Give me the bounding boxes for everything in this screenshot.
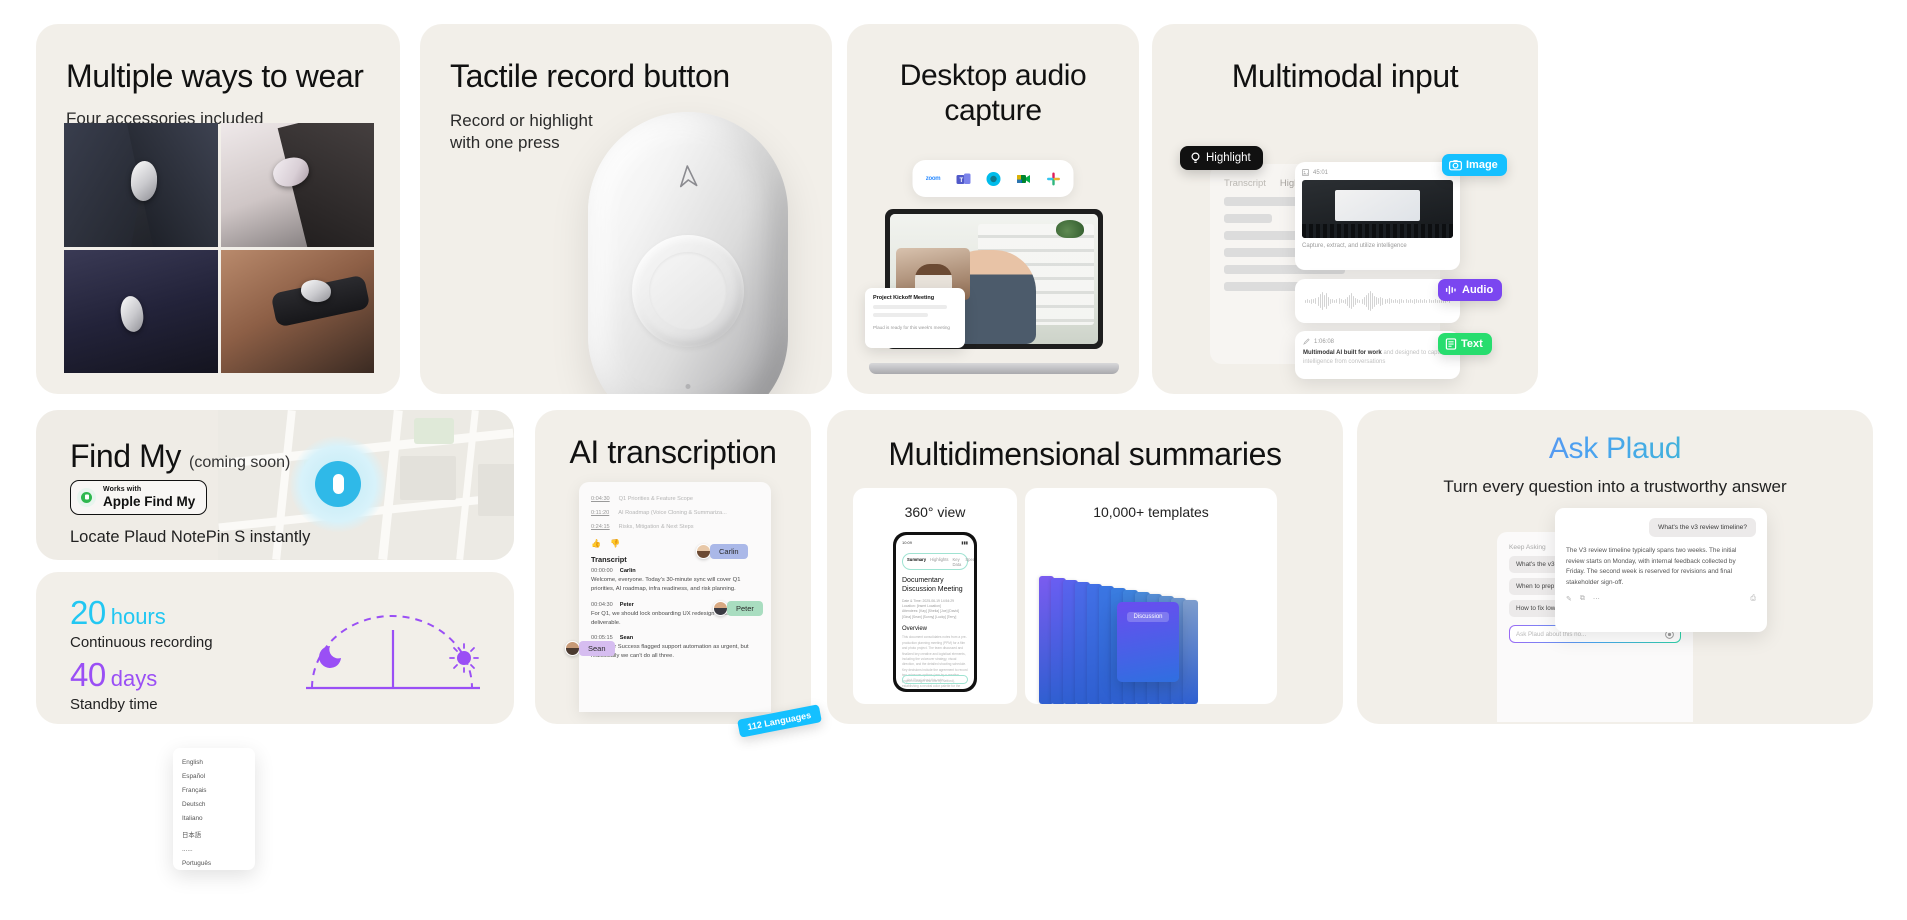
language-dropdown[interactable]: EnglishEspañolFrançaisDeutschItaliano日本語… bbox=[173, 748, 255, 870]
chapter-label: AI Roadmap (Voice Cloning & Summariza... bbox=[618, 510, 727, 516]
chapter-row[interactable]: 0:04:30 Q1 Priorities & Feature Scope bbox=[591, 492, 759, 506]
stat1-unit: hours bbox=[111, 604, 166, 629]
phone-tabs[interactable]: Summary Highlights Key Data Speaker bbox=[902, 553, 968, 570]
badge-text-label: Text bbox=[1461, 338, 1483, 350]
thumbs-down-icon[interactable]: 👎 bbox=[610, 539, 620, 548]
notepin-device-render bbox=[588, 112, 788, 394]
stat2-label: Standby time bbox=[70, 696, 158, 713]
user-question: What's the v3 review timeline? bbox=[1649, 518, 1756, 537]
summaries-title: Multidimensional summaries bbox=[842, 436, 1327, 474]
entry-text: Customer Success flagged support automat… bbox=[591, 643, 759, 662]
google-meet-icon bbox=[1012, 167, 1035, 190]
meta-line: Attendees: [Kay] [Sheila] [Joe] [David] bbox=[902, 609, 968, 614]
phone-mockup: 10:09▮▮▮ Summary Highlights Key Data Spe… bbox=[893, 532, 977, 692]
find-my-app-icon bbox=[77, 488, 96, 507]
tab-speaker[interactable]: Speaker bbox=[965, 557, 974, 567]
image-thumb-icon bbox=[1302, 169, 1309, 176]
highlight-pill[interactable]: Highlight bbox=[1180, 146, 1263, 170]
photo-wristband bbox=[221, 250, 375, 374]
stat1-label: Continuous recording bbox=[70, 634, 213, 651]
record-button[interactable] bbox=[632, 235, 744, 347]
desktop-title: Desktop audio capture bbox=[867, 58, 1118, 129]
phone-ask-input[interactable]: Ask Plaud about this note bbox=[902, 675, 968, 684]
chapter-time: 0:11:20 bbox=[591, 510, 609, 516]
card-ask-plaud: Ask Plaud Turn every question into a tru… bbox=[1357, 410, 1873, 724]
phone-status-icons: ▮▮▮ bbox=[961, 540, 968, 545]
plaud-logo-icon bbox=[676, 163, 700, 188]
zoom-icon: zoom bbox=[922, 167, 945, 190]
phone-meta: Date & Time: 2025-06-19 14:54:29 Locatio… bbox=[902, 599, 968, 621]
document-icon bbox=[1445, 338, 1457, 350]
entry-text: Welcome, everyone. Today's 30-minute syn… bbox=[591, 576, 759, 595]
meta-line: [Gina] [Sean] [Sunny] [Lucky] [Terry] bbox=[902, 615, 968, 620]
stat1-value: 20 bbox=[70, 594, 106, 631]
phone-overview-heading: Overview bbox=[902, 626, 968, 632]
waveform-icon bbox=[1445, 284, 1458, 296]
more-icon[interactable]: ⋯ bbox=[1593, 595, 1600, 603]
notepin-location-marker bbox=[315, 461, 361, 507]
findmy-title-row: Find My (coming soon) bbox=[70, 438, 290, 476]
card-multidimensional-summaries: Multidimensional summaries 360° view 10:… bbox=[827, 410, 1343, 724]
meeting-note-popup: Project Kickoff Meeting Plaud is ready f… bbox=[865, 288, 965, 348]
highlight-pill-label: Highlight bbox=[1206, 152, 1251, 164]
language-option[interactable]: Português bbox=[182, 856, 246, 870]
photo-lapel bbox=[64, 123, 218, 247]
card-multiple-ways-to-wear: Multiple ways to wear Four accessories i… bbox=[36, 24, 400, 394]
location-ping bbox=[290, 436, 386, 532]
template-card bbox=[1183, 600, 1198, 704]
slack-icon bbox=[1042, 167, 1065, 190]
stat2-value: 40 bbox=[70, 656, 106, 693]
captured-image-thumbnail bbox=[1302, 180, 1453, 238]
card-tactile-record-button: Tactile record button Record or highligh… bbox=[420, 24, 832, 394]
card-desktop-audio-capture: Desktop audio capture zoom T bbox=[847, 24, 1139, 394]
chapter-time: 0:04:30 bbox=[591, 496, 610, 502]
teams-icon: T bbox=[952, 167, 975, 190]
template-front-card: Discussion bbox=[1117, 602, 1179, 682]
card-find-my: Find My (coming soon) Works with Apple F… bbox=[36, 410, 514, 560]
works-with-apple-find-my-badge: Works with Apple Find My bbox=[70, 480, 207, 515]
phone-time: 10:09 bbox=[902, 540, 912, 545]
pen-icon bbox=[1303, 338, 1310, 345]
language-option[interactable]: English bbox=[182, 755, 246, 769]
language-option[interactable]: ...... bbox=[182, 842, 246, 856]
language-option[interactable]: Deutsch bbox=[182, 798, 246, 812]
badge-works-with: Works with bbox=[103, 486, 195, 493]
card-ai-transcription: AI transcription 0:04:30 Q1 Priorities &… bbox=[535, 410, 811, 724]
template-front-label: Discussion bbox=[1127, 612, 1168, 622]
avatar bbox=[565, 641, 580, 656]
speaker-tag-sean: Sean bbox=[579, 641, 615, 656]
stat-continuous-recording: 20hours Continuous recording bbox=[70, 594, 213, 651]
badge-text: Text bbox=[1438, 333, 1492, 355]
language-option[interactable]: Español bbox=[182, 769, 246, 783]
note-body: Plaud is ready for this week's meeting bbox=[873, 325, 957, 330]
chat-answer-bubble: What's the v3 review timeline? The V3 re… bbox=[1555, 508, 1767, 632]
badge-audio-label: Audio bbox=[1462, 284, 1493, 296]
chapter-label: Q1 Priorities & Feature Scope bbox=[619, 496, 693, 502]
subcard-360-view: 360° view 10:09▮▮▮ Summary Highlights Ke… bbox=[853, 488, 1017, 704]
camera-icon bbox=[1449, 159, 1462, 171]
entry-speaker: Sean bbox=[620, 635, 633, 641]
tab-highlights[interactable]: Highlights bbox=[930, 557, 948, 567]
text-card-body: Multimodal AI built for work and designe… bbox=[1303, 349, 1452, 367]
card-multimodal-input: Multimodal input Transcript Highlight Hi… bbox=[1152, 24, 1538, 394]
entry-speaker: Carlin bbox=[620, 568, 636, 574]
answer-actions: ✎ ⧉ ⋯ ⎙ bbox=[1566, 595, 1756, 603]
stat-standby-time: 40days Standby time bbox=[70, 656, 158, 713]
thumbs-up-icon[interactable]: 👍 bbox=[591, 539, 601, 548]
image-card-meta: 45:01 bbox=[1302, 169, 1453, 176]
card-battery-life: 20hours Continuous recording 40days Stan… bbox=[36, 572, 514, 724]
audio-waveform bbox=[1305, 290, 1450, 312]
badge-apple-find-my: Apple Find My bbox=[103, 495, 195, 509]
lightbulb-icon bbox=[1190, 152, 1201, 164]
subcard-right-label: 10,000+ templates bbox=[1025, 504, 1277, 520]
tactile-title: Tactile record button bbox=[450, 58, 832, 96]
feature-grid-page: Multiple ways to wear Four accessories i… bbox=[0, 0, 1907, 920]
entry-speaker: Peter bbox=[620, 602, 634, 608]
language-option[interactable]: 日本語 bbox=[182, 826, 246, 842]
text-card-time: 1:06:08 bbox=[1314, 339, 1334, 345]
transcript-entry: 00:00:00Carlin Welcome, everyone. Today'… bbox=[591, 568, 759, 595]
subcard-left-label: 360° view bbox=[853, 504, 1017, 520]
text-input-card: 1:06:08 Multimodal AI built for work and… bbox=[1295, 331, 1460, 379]
multimodal-title: Multimodal input bbox=[1171, 58, 1518, 96]
subcard-templates: 10,000+ templates Discussion bbox=[1025, 488, 1277, 704]
entry-time: 00:04:30 bbox=[591, 602, 613, 608]
language-option[interactable]: Italiano bbox=[182, 812, 246, 826]
svg-text:T: T bbox=[959, 178, 963, 184]
entry-time: 00:00:00 bbox=[591, 568, 613, 574]
microphone-hole-icon bbox=[686, 384, 691, 389]
webex-icon bbox=[982, 167, 1005, 190]
copy-icon[interactable]: ⧉ bbox=[1580, 595, 1585, 603]
badge-audio: Audio bbox=[1438, 279, 1502, 301]
image-card-time: 45:01 bbox=[1313, 170, 1328, 176]
text-card-bold: Multimodal AI built for work bbox=[1303, 350, 1382, 356]
wear-title: Multiple ways to wear bbox=[66, 58, 400, 96]
transcript-panel: 0:04:30 Q1 Priorities & Feature Scope 0:… bbox=[579, 482, 771, 712]
image-input-card: 45:01 Capture, extract, and utilize inte… bbox=[1295, 162, 1460, 270]
note-title: Project Kickoff Meeting bbox=[873, 295, 957, 301]
speaker-tag-peter: Peter bbox=[727, 601, 763, 616]
day-night-arc-illustration bbox=[298, 602, 488, 698]
speaker-tag-carlin: Carlin bbox=[710, 544, 748, 559]
chapter-time: 0:24:15 bbox=[591, 524, 610, 530]
tab-summary[interactable]: Summary bbox=[907, 557, 926, 567]
findmy-title: Find My bbox=[70, 438, 181, 476]
ghost-tab-transcript: Transcript bbox=[1224, 178, 1266, 189]
supported-apps-bar: zoom T bbox=[913, 160, 1074, 197]
badge-image: Image bbox=[1442, 154, 1507, 176]
assistant-answer: The V3 review timeline typically spans t… bbox=[1566, 537, 1756, 588]
ask-plaud-title: Ask Plaud bbox=[1357, 432, 1873, 466]
text-card-meta: 1:06:08 bbox=[1303, 338, 1452, 345]
stat2-unit: days bbox=[111, 666, 157, 691]
chapter-row[interactable]: 0:11:20 AI Roadmap (Voice Cloning & Summ… bbox=[591, 506, 759, 520]
phone-doc-title: Documentary Discussion Meeting bbox=[902, 577, 968, 595]
audio-input-card bbox=[1295, 279, 1460, 323]
wear-photo-grid bbox=[64, 123, 374, 373]
badge-image-label: Image bbox=[1466, 159, 1498, 171]
export-icon[interactable]: ⎙ bbox=[1750, 595, 1756, 603]
chapter-row[interactable]: 0:24:15 Risks, Mitigation & Next Steps bbox=[591, 520, 759, 534]
photo-shirt-collar bbox=[221, 123, 375, 247]
findmy-coming-soon: (coming soon) bbox=[189, 454, 290, 472]
photo-polo bbox=[64, 250, 218, 374]
transcript-entry: 00:05:15Sean Customer Success flagged su… bbox=[591, 635, 759, 662]
ask-plaud-subtitle: Turn every question into a trustworthy a… bbox=[1357, 476, 1873, 499]
edit-icon[interactable]: ✎ bbox=[1566, 595, 1572, 603]
chapter-label: Risks, Mitigation & Next Steps bbox=[619, 524, 694, 530]
avatar bbox=[713, 601, 728, 616]
tab-key-data[interactable]: Key Data bbox=[952, 557, 961, 567]
findmy-caption: Locate Plaud NotePin S instantly bbox=[70, 528, 310, 547]
image-card-caption: Capture, extract, and utilize intelligen… bbox=[1302, 243, 1453, 249]
language-option[interactable]: Français bbox=[182, 783, 246, 797]
transcription-title: AI transcription bbox=[546, 434, 800, 472]
avatar bbox=[696, 544, 711, 559]
